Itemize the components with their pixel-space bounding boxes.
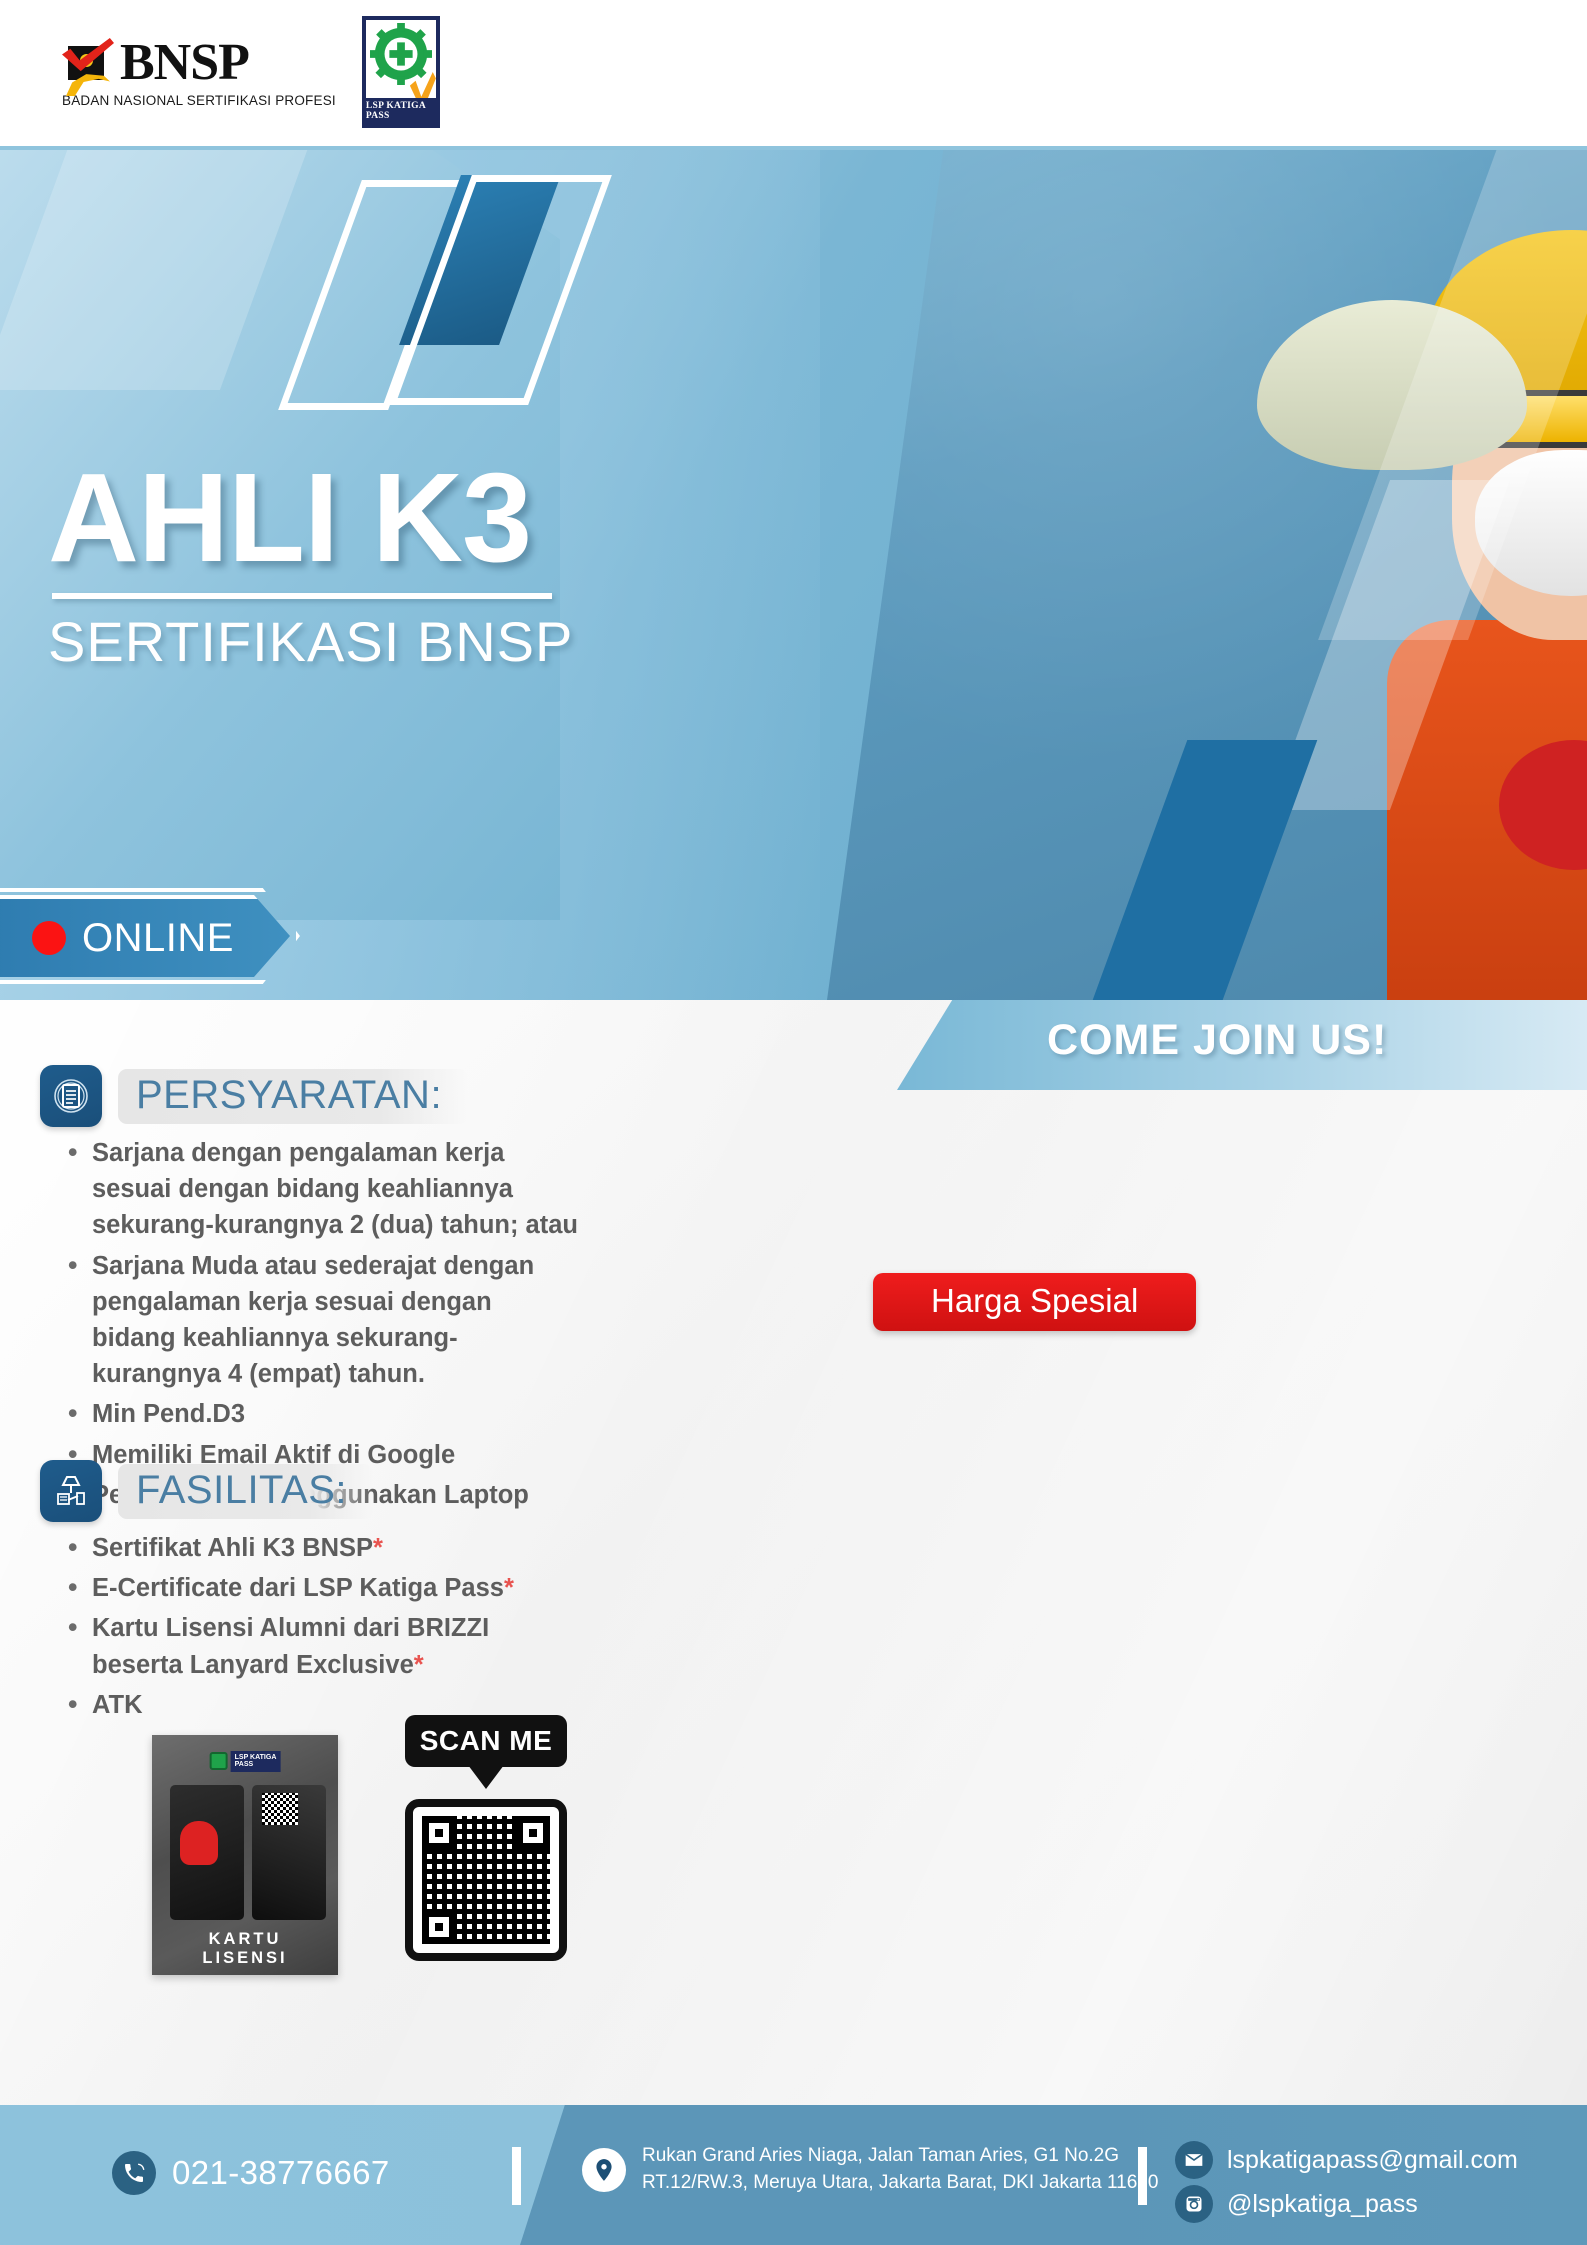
persyaratan-section: PERSYARATAN: Sarjana dengan pengalaman k…	[40, 1065, 580, 1517]
phone-icon	[112, 2151, 156, 2195]
qr-code[interactable]	[405, 1799, 567, 1961]
special-price-tag: Harga Spesial	[873, 1273, 1196, 1331]
page-subtitle: SERTIFIKASI BNSP	[48, 609, 573, 674]
kartu-lisensi-caption: KARTULISENSI	[152, 1930, 338, 1967]
footer-address-text: Rukan Grand Aries Niaga, Jalan Taman Ari…	[642, 2143, 1158, 2197]
license-card-qr-icon	[262, 1793, 298, 1825]
persyaratan-header: PERSYARATAN:	[40, 1065, 580, 1127]
desk-lamp-icon	[40, 1460, 102, 1522]
kartu-lisensi-photo: LSP KATIGAPASS KARTULISENSI	[152, 1735, 338, 1975]
fasilitas-title: FASILITAS:	[118, 1464, 373, 1519]
qr-finder-top-left	[422, 1816, 456, 1850]
footer-divider-1	[512, 2147, 521, 2205]
online-badge-label: ONLINE	[82, 916, 234, 961]
list-item: Sertifikat Ahli K3 BNSP*	[64, 1530, 580, 1566]
list-item: Kartu Lisensi Alumni dari BRIZZI beserta…	[64, 1610, 580, 1682]
flyer-page: AHLI K3 SERTIFIKASI BNSP ONLINE BNSP BAD…	[0, 0, 1587, 2245]
list-item: E-Certificate dari LSP Katiga Pass*	[64, 1570, 580, 1606]
footer-address-line2: RT.12/RW.3, Meruya Utara, Jakarta Barat,…	[642, 2170, 1158, 2197]
asterisk-marker: *	[373, 1534, 383, 1562]
footer-contact-group: lspkatigapass@gmail.com @lspkatiga_pass	[1175, 2141, 1518, 2223]
lsp-katiga-band-label: LSP KATIGA PASS	[366, 98, 436, 124]
envelope-icon	[1175, 2141, 1213, 2179]
footer-email[interactable]: lspkatigapass@gmail.com	[1175, 2141, 1518, 2179]
location-pin-icon	[582, 2148, 626, 2192]
list-item: Sarjana Muda atau sederajat dengan penga…	[64, 1248, 580, 1393]
footer-address-line1: Rukan Grand Aries Niaga, Jalan Taman Ari…	[642, 2143, 1158, 2170]
fasilitas-header: FASILITAS:	[40, 1460, 580, 1522]
list-item: Sarjana dengan pengalaman kerja sesuai d…	[64, 1135, 580, 1244]
come-join-us-banner: COME JOIN US!	[897, 1000, 1587, 1090]
lsp-katiga-pass-logo: LSP KATIGA PASS	[362, 16, 440, 128]
footer-email-text: lspkatigapass@gmail.com	[1227, 2146, 1518, 2175]
kartu-logo-strip: LSP KATIGAPASS	[210, 1751, 281, 1772]
qr-finder-top-right	[516, 1816, 550, 1850]
hero-section: AHLI K3 SERTIFIKASI BNSP ONLINE	[0, 0, 1587, 1000]
footer-phone-number: 021-38776667	[172, 2154, 390, 2192]
persyaratan-title: PERSYARATAN:	[118, 1069, 468, 1124]
license-card-portrait	[180, 1821, 218, 1865]
hero-title-block: AHLI K3 SERTIFIKASI BNSP	[48, 455, 573, 674]
online-badge: ONLINE	[0, 895, 290, 977]
bnsp-tagline: BADAN NASIONAL SERTIFIKASI PROFESI	[62, 93, 336, 108]
footer-phone[interactable]: 021-38776667	[112, 2151, 390, 2195]
bnsp-mark-icon	[60, 36, 114, 90]
scan-me-block[interactable]: SCAN ME	[405, 1715, 585, 1961]
footer-instagram[interactable]: @lspkatiga_pass	[1175, 2185, 1418, 2223]
qr-finder-bottom-left	[422, 1910, 456, 1944]
document-icon	[40, 1065, 102, 1127]
gear-icon	[370, 23, 432, 85]
scan-me-label: SCAN ME	[405, 1715, 567, 1767]
come-join-us-label: COME JOIN US!	[1047, 1016, 1387, 1065]
asterisk-marker: *	[414, 1651, 424, 1679]
fasilitas-section: FASILITAS: Sertifikat Ahli K3 BNSP* E-Ce…	[40, 1460, 580, 1727]
fasilitas-list: Sertifikat Ahli K3 BNSP* E-Certificate d…	[40, 1530, 580, 1723]
footer-instagram-handle: @lspkatiga_pass	[1227, 2190, 1418, 2219]
bnsp-wordmark: BNSP	[120, 37, 249, 89]
bnsp-logo: BNSP BADAN NASIONAL SERTIFIKASI PROFESI	[60, 36, 336, 108]
page-title: AHLI K3	[48, 455, 573, 581]
asterisk-marker: *	[504, 1574, 514, 1602]
online-status-dot-icon	[32, 921, 66, 955]
instagram-icon	[1175, 2185, 1213, 2223]
footer-divider-2	[1138, 2147, 1147, 2205]
title-divider	[52, 593, 552, 599]
footer-contact-bar: 021-38776667 Rukan Grand Aries Niaga, Ja…	[0, 2105, 1587, 2245]
footer-address: Rukan Grand Aries Niaga, Jalan Taman Ari…	[582, 2143, 1158, 2197]
persyaratan-list: Sarjana dengan pengalaman kerja sesuai d…	[40, 1135, 580, 1513]
list-item: Min Pend.D3	[64, 1396, 580, 1432]
content-section: PERSYARATAN: Sarjana dengan pengalaman k…	[0, 1000, 1587, 2105]
logo-group: BNSP BADAN NASIONAL SERTIFIKASI PROFESI	[60, 16, 440, 128]
qr-code-image	[422, 1816, 550, 1944]
